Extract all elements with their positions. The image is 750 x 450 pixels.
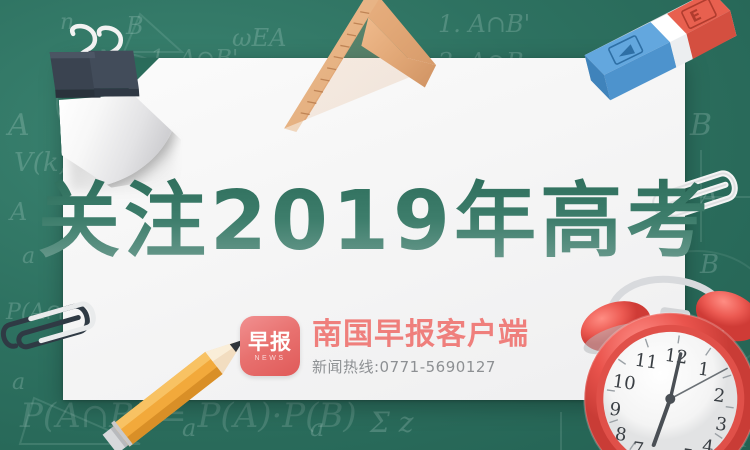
chalk-stroke xyxy=(560,412,562,450)
brand-text-block: 南国早报客户端 新闻热线:0771-5690127 xyxy=(312,316,529,377)
chalk-symbol: A xyxy=(8,108,30,143)
svg-text:6: 6 xyxy=(655,447,669,450)
chalk-symbol: B xyxy=(690,108,712,143)
page-title: 关注2019年高考 xyxy=(0,176,750,268)
app-logo-cn-label: 早报 xyxy=(248,331,292,353)
chalk-formula: 1. A∩B' xyxy=(438,10,530,38)
eraser-icon: E xyxy=(560,0,750,108)
brand-name: 南国早报客户端 xyxy=(312,318,529,352)
svg-text:10: 10 xyxy=(611,371,637,395)
app-logo-en-label: NEWS xyxy=(255,355,286,362)
triangle-ruler-icon xyxy=(258,0,448,134)
chalk-formula: Σ z xyxy=(370,406,413,439)
chalk-symbol: a xyxy=(310,414,324,442)
poster-canvas: 1. A∩B' 2. A∩B 3. A∪B 1. A∩B' 2. A∩B 3. … xyxy=(0,0,750,450)
svg-text:4: 4 xyxy=(701,436,715,450)
svg-text:5: 5 xyxy=(680,445,694,450)
brand-hotline: 新闻热线:0771-5690127 xyxy=(312,356,529,377)
app-logo-icon: 早报 NEWS xyxy=(240,316,300,376)
binder-clip-icon xyxy=(38,22,148,132)
svg-text:7: 7 xyxy=(631,438,645,450)
pencil-icon xyxy=(66,280,256,450)
clock-numeral: 12 xyxy=(663,345,689,369)
alarm-clock-icon: 12 1 2 3 4 5 6 7 8 9 10 11 xyxy=(566,262,750,450)
svg-text:11: 11 xyxy=(633,350,659,374)
brand-lockup: 早报 NEWS 南国早报客户端 新闻热线:0771-5690127 xyxy=(240,316,529,377)
